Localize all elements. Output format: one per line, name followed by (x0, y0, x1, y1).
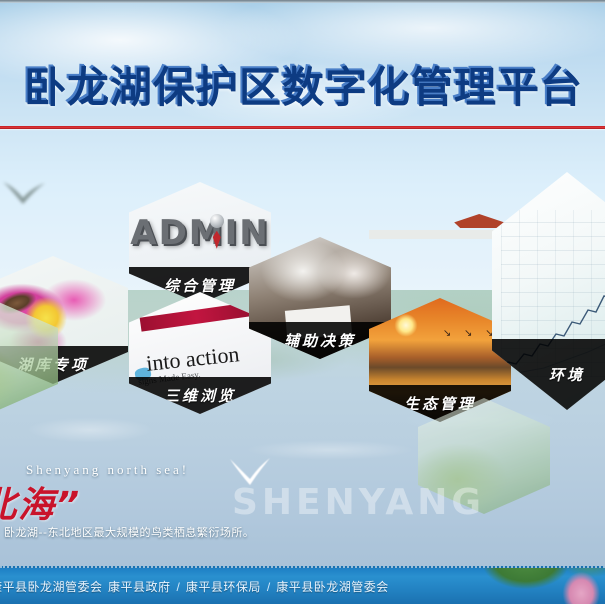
page-root: 卧龙湖保护区数字化管理平台 湖库专项 ADMIN 综合管理 into actio… (0, 0, 605, 604)
banner-chinese-text: 阳北海” (0, 476, 81, 528)
pin-head-icon (210, 214, 224, 228)
footer-link-wolonghu-committee[interactable]: 康平县卧龙湖管委会 (276, 578, 389, 595)
footer-owner: 康平县卧龙湖管委会 (0, 578, 103, 595)
footer-link-epb[interactable]: 康平县环保局 (186, 578, 261, 595)
footer-bar: 康平县卧龙湖管委会 康平县政府 / 康平县环保局 / 康平县卧龙湖管委会 (0, 566, 605, 604)
header-divider (0, 126, 605, 129)
footer-separator-2: / (267, 580, 270, 594)
bird-silhouette-icon (2, 176, 46, 206)
page-title: 卧龙湖保护区数字化管理平台 (23, 53, 582, 114)
photo-word-admin: ADMIN (130, 213, 269, 253)
top-edge-line (0, 0, 605, 3)
footer-links: 康平县政府 / 康平县环保局 / 康平县卧龙湖管委会 (108, 578, 389, 595)
banner-caption: 卧龙湖--东北地区最大规模的鸟类栖息繁衍场所。 (4, 524, 254, 540)
pavilion-roof (454, 214, 504, 228)
page-title-wrap: 卧龙湖保护区数字化管理平台 (0, 52, 605, 114)
lotus-decoration (473, 566, 605, 604)
banner-ghost-text: SHENYANG (232, 482, 485, 523)
bridge-railing (369, 230, 511, 239)
flying-birds-icon: ↘ ↘ ↘ (443, 328, 499, 339)
footer-link-government[interactable]: 康平县政府 (108, 578, 171, 595)
footer-separator-1: / (177, 580, 180, 594)
